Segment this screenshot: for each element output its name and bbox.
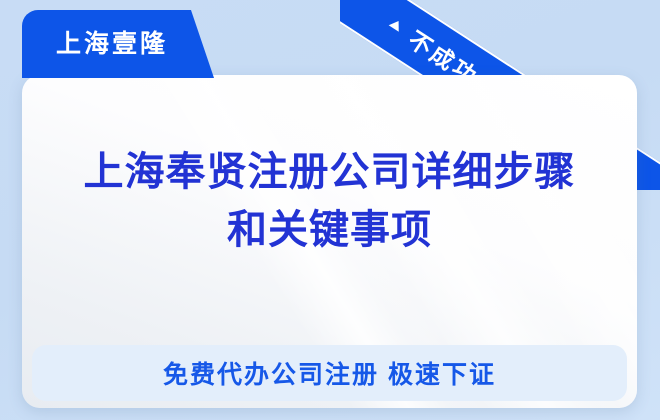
triangle-up-icon [389,18,404,32]
page-title-line-1: 上海奉贤注册公司详细步骤 [84,143,576,201]
brand-tab[interactable]: 上海壹隆 [22,10,214,78]
page-title-line-2: 和关键事项 [84,201,576,259]
cta-banner[interactable]: 免费代办公司注册 极速下证 [32,345,627,401]
promo-poster: 不成功 不收费 上海壹隆 上海奉贤注册公司详细步骤 和关键事项 免费代办公司注册… [0,0,660,420]
page-title: 上海奉贤注册公司详细步骤 和关键事项 [84,143,576,259]
cta-banner-label: 免费代办公司注册 极速下证 [163,355,496,391]
main-card: 上海奉贤注册公司详细步骤 和关键事项 免费代办公司注册 极速下证 [22,75,637,408]
brand-tab-label: 上海壹隆 [56,32,168,57]
card-content: 上海奉贤注册公司详细步骤 和关键事项 免费代办公司注册 极速下证 [22,75,637,408]
